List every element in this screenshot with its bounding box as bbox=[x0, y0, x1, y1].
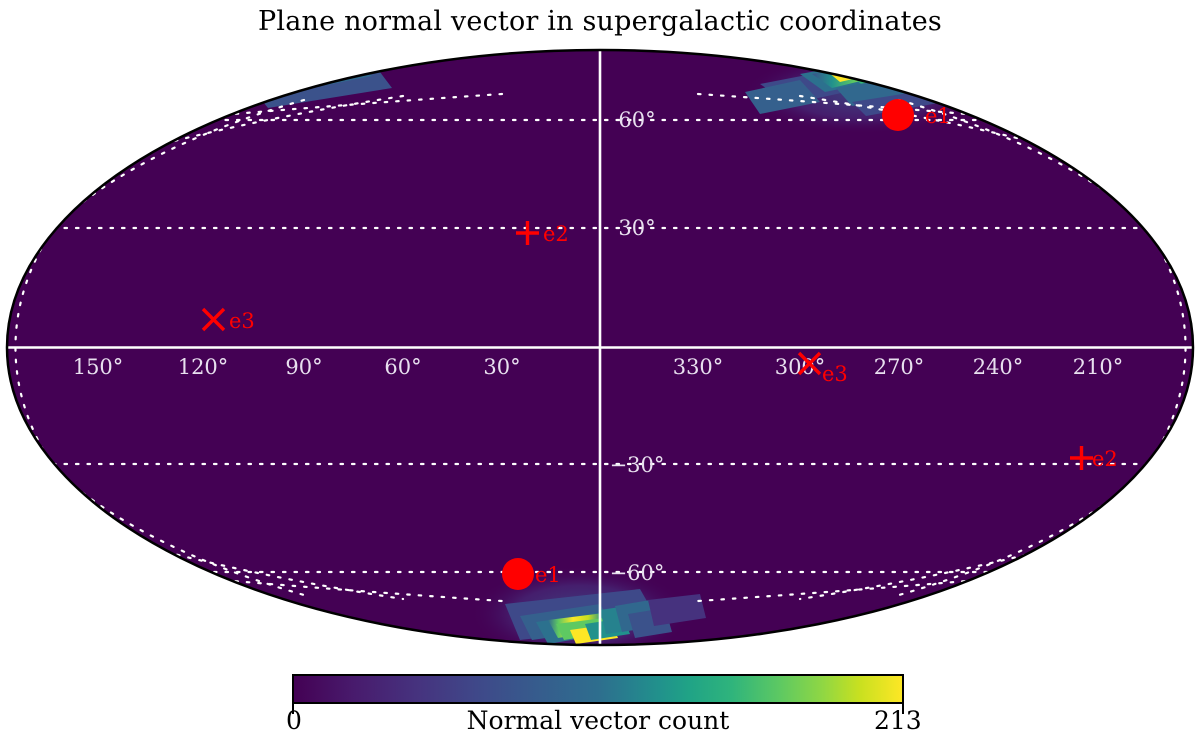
lon-tick-60: 60° bbox=[384, 355, 421, 379]
colorbar-axis-label: Normal vector count bbox=[292, 706, 904, 735]
lon-tick-150: 150° bbox=[73, 355, 124, 379]
marker-e3-label: e3 bbox=[229, 309, 255, 333]
marker-e1-antipode-label: e1 bbox=[535, 563, 561, 587]
lon-tick-210: 210° bbox=[1073, 355, 1124, 379]
lon-tick-300: 300° bbox=[775, 355, 826, 379]
marker-e1-label: e1 bbox=[925, 104, 951, 128]
colorbar-max-label: 213 bbox=[874, 706, 914, 735]
lat-tick-60: 60° bbox=[618, 108, 655, 132]
mollweide-sky-map: 150° 120° 90° 60° 30° 330° 300° 270° 240… bbox=[0, 44, 1200, 652]
lat-tick-neg60: −60° bbox=[610, 561, 665, 585]
marker-e2-label: e2 bbox=[543, 222, 569, 246]
page-title: Plane normal vector in supergalactic coo… bbox=[0, 6, 1200, 37]
figure-canvas: Plane normal vector in supergalactic coo… bbox=[0, 0, 1200, 748]
marker-e2-antipode-label: e2 bbox=[1092, 447, 1118, 471]
lon-tick-240: 240° bbox=[973, 355, 1024, 379]
lat-tick-30: 30° bbox=[618, 216, 655, 240]
lat-tick-neg30: −30° bbox=[610, 453, 665, 477]
lon-tick-270: 270° bbox=[874, 355, 925, 379]
lon-tick-30: 30° bbox=[483, 355, 520, 379]
lon-tick-120: 120° bbox=[178, 355, 229, 379]
colorbar-gradient bbox=[292, 674, 904, 704]
marker-e3-antipode-label: e3 bbox=[822, 362, 848, 386]
lon-tick-330: 330° bbox=[673, 355, 724, 379]
lon-tick-90: 90° bbox=[285, 355, 322, 379]
colorbar bbox=[292, 674, 904, 704]
